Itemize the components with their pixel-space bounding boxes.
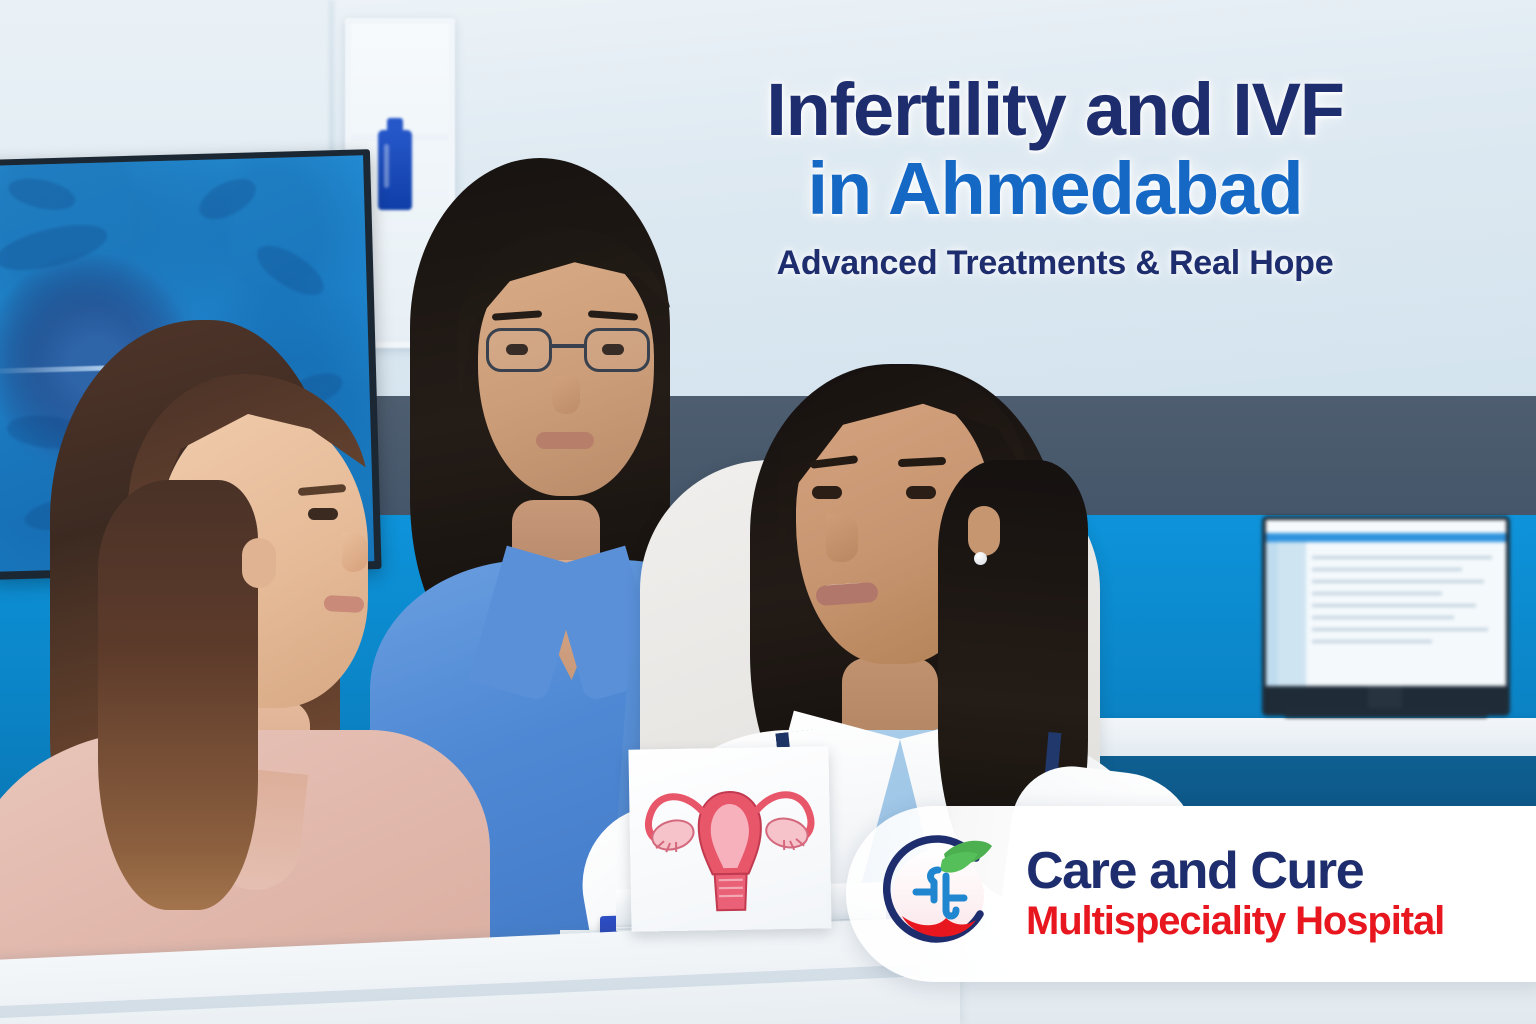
doctor-ear: [968, 506, 1000, 556]
nurse-nose: [552, 374, 580, 414]
doctor-eye-right: [906, 486, 936, 499]
patient-eye: [308, 508, 338, 520]
headline-block: Infertility and IVF in Ahmedabad Advance…: [620, 74, 1490, 280]
poster-canvas: Infertility and IVF in Ahmedabad Advance…: [0, 0, 1536, 1024]
uterus-diagram-icon: [628, 746, 831, 931]
desktop-monitor: [1262, 516, 1510, 716]
keyboard: [1284, 708, 1488, 718]
patient-ear: [242, 538, 276, 588]
headline-line-2: in Ahmedabad: [620, 153, 1490, 226]
patient-figure: [0, 300, 510, 980]
patient-nose: [342, 532, 368, 572]
patient-hair-side: [98, 480, 258, 910]
logo-text-block: Care and Cure Multispeciality Hospital: [1026, 845, 1444, 942]
nurse-lips: [536, 432, 594, 449]
patient-lips: [324, 595, 365, 613]
logo-banner: Care and Cure Multispeciality Hospital: [846, 806, 1536, 982]
records-screen: [1266, 520, 1506, 686]
headline-line-1: Infertility and IVF: [620, 74, 1490, 147]
brand-tagline: Multispeciality Hospital: [1026, 900, 1444, 942]
doctor-nose: [826, 514, 858, 562]
doctor-eye-left: [812, 486, 842, 499]
uterus-anatomy-card: [628, 746, 831, 931]
earring: [974, 552, 987, 565]
brand-name: Care and Cure: [1026, 845, 1444, 898]
care-and-cure-logo-icon: [868, 824, 1008, 964]
headline-subtitle: Advanced Treatments & Real Hope: [620, 247, 1490, 280]
